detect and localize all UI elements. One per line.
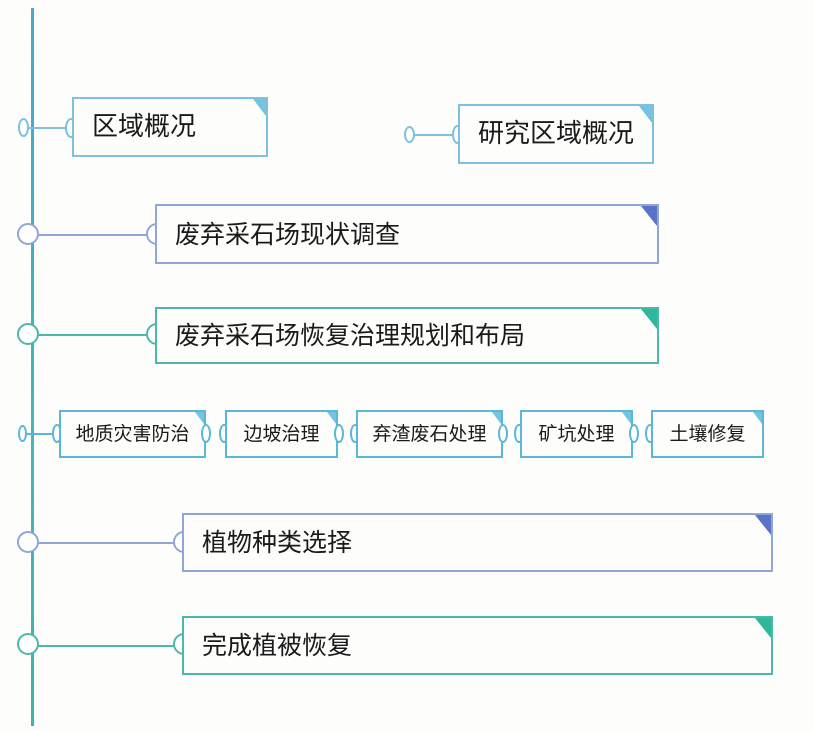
- node-box-restoration-plan[interactable]: 废弃采石场恢复治理规划和布局: [155, 307, 659, 364]
- spine-node-row3[interactable]: [17, 323, 39, 345]
- node-box-current-survey[interactable]: 废弃采石场现状调查: [155, 204, 659, 264]
- node-box-vegetation-complete[interactable]: 完成植被恢复: [182, 616, 773, 675]
- node-label: 废弃采石场现状调查: [175, 222, 400, 247]
- node-label: 土壤修复: [669, 425, 745, 444]
- chain-box-slope-treatment[interactable]: 边坡治理: [225, 410, 338, 458]
- node-box-region-overview[interactable]: 区域概况: [72, 97, 268, 157]
- corner-marker-icon: [253, 99, 266, 116]
- spine-node-row6[interactable]: [17, 633, 39, 655]
- node-box-study-area-overview[interactable]: 研究区域概况: [458, 104, 654, 164]
- spine-node-row4[interactable]: [18, 425, 27, 442]
- node-label: 地质灾害防治: [75, 425, 189, 444]
- corner-marker-icon: [641, 206, 657, 226]
- spine-node-row5[interactable]: [17, 531, 39, 553]
- mindmap-canvas: 区域概况 研究区域概况 废弃采石场现状调查 废弃采石场恢复治理规划和布局 地质灾…: [0, 0, 813, 731]
- chain-box-waste-rock-disposal[interactable]: 弃渣废石处理: [356, 410, 503, 458]
- chain-node-right-1[interactable]: [201, 424, 211, 443]
- chain-box-soil-remediation[interactable]: 土壤修复: [651, 410, 764, 458]
- node-label: 区域概况: [92, 114, 196, 140]
- corner-marker-icon: [755, 515, 771, 535]
- chain-box-pit-treatment[interactable]: 矿坑处理: [520, 410, 633, 458]
- corner-marker-icon: [753, 412, 762, 424]
- spine-node-row1[interactable]: [18, 118, 29, 137]
- node-label: 研究区域概况: [478, 121, 634, 147]
- node-label: 边坡治理: [243, 425, 319, 444]
- vertical-trunk-line: [31, 8, 34, 726]
- chain-node-right-3[interactable]: [498, 424, 508, 443]
- corner-marker-icon: [639, 106, 652, 123]
- node-label: 植物种类选择: [202, 530, 352, 555]
- node-box-plant-selection[interactable]: 植物种类选择: [182, 513, 773, 572]
- spine-node-row2[interactable]: [17, 223, 39, 245]
- corner-marker-icon: [622, 412, 631, 424]
- connector-line-row5: [30, 542, 185, 544]
- corner-marker-icon: [755, 618, 771, 638]
- corner-marker-icon: [195, 412, 204, 424]
- chain-node-right-4[interactable]: [629, 424, 639, 443]
- chain-box-geohazard-prevention[interactable]: 地质灾害防治: [59, 410, 206, 458]
- connector-line-row2: [30, 234, 158, 236]
- spine-node-row1-child[interactable]: [404, 126, 415, 143]
- corner-marker-icon: [327, 412, 336, 424]
- chain-node-right-2[interactable]: [334, 424, 344, 443]
- node-label: 矿坑处理: [538, 425, 614, 444]
- connector-line-row3: [30, 334, 158, 336]
- corner-marker-icon: [492, 412, 501, 424]
- corner-marker-icon: [641, 309, 657, 329]
- node-label: 完成植被恢复: [202, 633, 352, 658]
- node-label: 弃渣废石处理: [372, 425, 486, 444]
- node-label: 废弃采石场恢复治理规划和布局: [175, 323, 525, 348]
- connector-line-row6: [30, 645, 185, 647]
